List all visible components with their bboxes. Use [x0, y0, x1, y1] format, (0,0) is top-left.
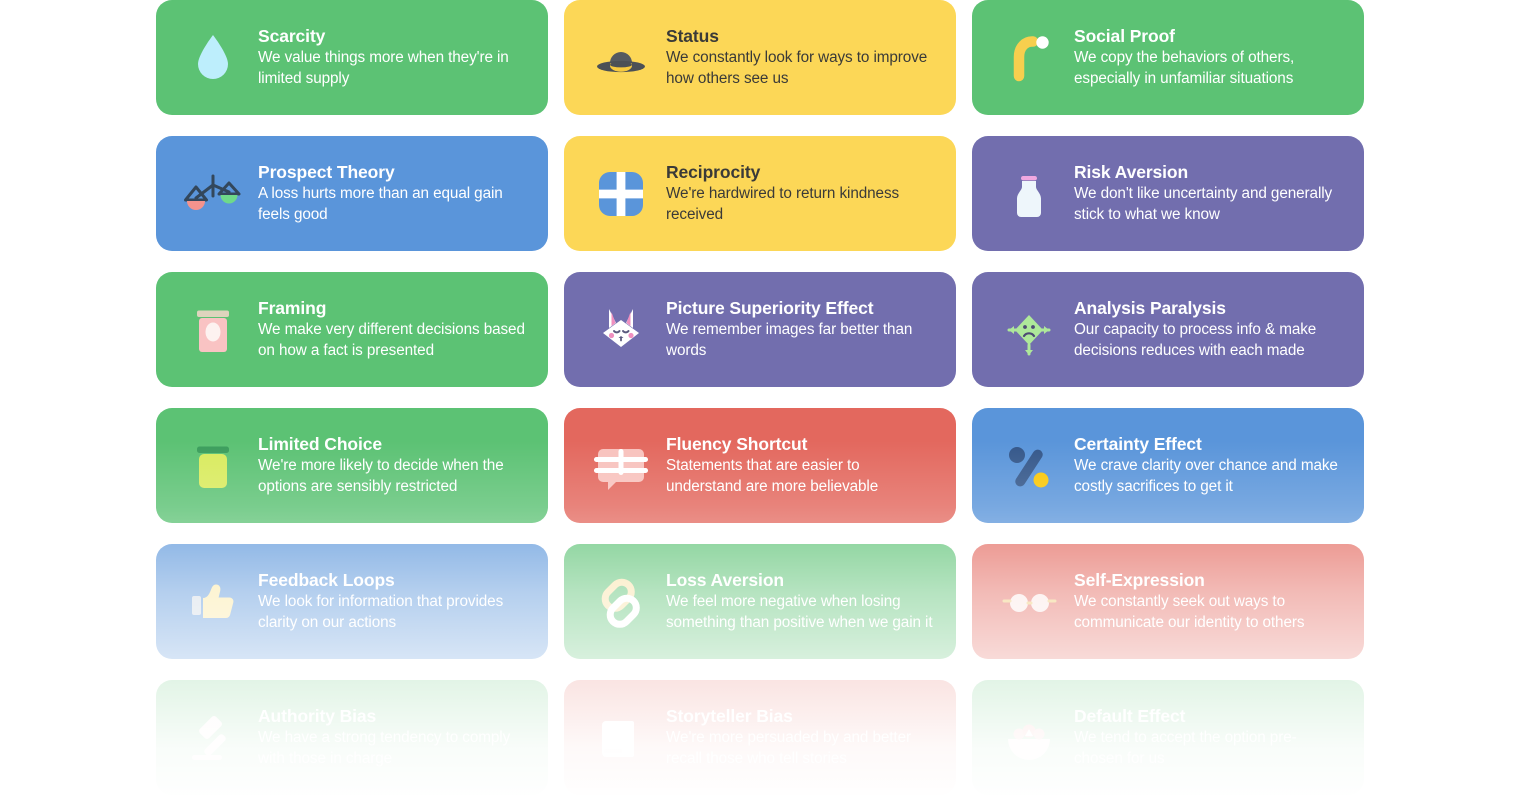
- principle-card[interactable]: Limited ChoiceWe're more likely to decid…: [156, 408, 548, 523]
- principle-description: We make very different decisions based o…: [258, 320, 526, 361]
- principle-title: Risk Aversion: [1074, 162, 1342, 183]
- principle-card[interactable]: Authority BiasWe have a strong tendency …: [156, 680, 548, 795]
- principle-text: Loss AversionWe feel more negative when …: [666, 570, 934, 633]
- bowler-hat-icon: [588, 25, 654, 91]
- principle-card[interactable]: Social ProofWe copy the behaviors of oth…: [972, 0, 1364, 115]
- principle-description: We tend to accept the option pre-chosen …: [1074, 728, 1342, 769]
- chain-link-icon: [588, 569, 654, 635]
- balance-scale-icon: [180, 161, 246, 227]
- principle-text: Picture Superiority EffectWe remember im…: [666, 298, 934, 361]
- principle-title: Analysis Paralysis: [1074, 298, 1342, 319]
- principle-text: Self-ExpressionWe constantly seek out wa…: [1074, 570, 1342, 633]
- principle-text: Risk AversionWe don't like uncertainty a…: [1074, 162, 1342, 225]
- principle-title: Authority Bias: [258, 706, 526, 727]
- cross-square-icon: [588, 161, 654, 227]
- principle-card[interactable]: ReciprocityWe're hardwired to return kin…: [564, 136, 956, 251]
- principle-text: FramingWe make very different decisions …: [258, 298, 526, 361]
- principle-title: Limited Choice: [258, 434, 526, 455]
- principle-card[interactable]: Feedback LoopsWe look for information th…: [156, 544, 548, 659]
- milk-bottle-icon: [996, 161, 1062, 227]
- principle-card[interactable]: ScarcityWe value things more when they'r…: [156, 0, 548, 115]
- principle-text: Authority BiasWe have a strong tendency …: [258, 706, 526, 769]
- principle-title: Storyteller Bias: [666, 706, 934, 727]
- principle-card[interactable]: Certainty EffectWe crave clarity over ch…: [972, 408, 1364, 523]
- principle-title: Scarcity: [258, 26, 526, 47]
- water-drop-icon: [180, 25, 246, 91]
- principle-description: We don't like uncertainty and generally …: [1074, 184, 1342, 225]
- principle-description: We crave clarity over chance and make co…: [1074, 456, 1342, 497]
- principle-description: We remember images far better than words: [666, 320, 934, 361]
- principle-description: We have a strong tendency to comply with…: [258, 728, 526, 769]
- principle-card[interactable]: Storyteller BiasWe're more persuaded by …: [564, 680, 956, 795]
- principle-title: Loss Aversion: [666, 570, 934, 591]
- boomerang-icon: [996, 25, 1062, 91]
- principle-text: Storyteller BiasWe're more persuaded by …: [666, 706, 934, 769]
- principle-title: Picture Superiority Effect: [666, 298, 934, 319]
- principle-card[interactable]: StatusWe constantly look for ways to imp…: [564, 0, 956, 115]
- principle-title: Social Proof: [1074, 26, 1342, 47]
- principle-text: StatusWe constantly look for ways to imp…: [666, 26, 934, 89]
- principle-title: Self-Expression: [1074, 570, 1342, 591]
- speech-bubble-lines-icon: [588, 433, 654, 499]
- green-jar-icon: [180, 433, 246, 499]
- principle-text: Certainty EffectWe crave clarity over ch…: [1074, 434, 1342, 497]
- principle-text: Social ProofWe copy the behaviors of oth…: [1074, 26, 1342, 89]
- principle-title: Reciprocity: [666, 162, 934, 183]
- principle-title: Certainty Effect: [1074, 434, 1342, 455]
- principle-description: Our capacity to process info & make deci…: [1074, 320, 1342, 361]
- principle-description: We look for information that provides cl…: [258, 592, 526, 633]
- sad-diamond-arrows-icon: [996, 297, 1062, 363]
- percent-icon: [996, 433, 1062, 499]
- principle-text: Prospect TheoryA loss hurts more than an…: [258, 162, 526, 225]
- principle-title: Fluency Shortcut: [666, 434, 934, 455]
- principle-card[interactable]: Loss AversionWe feel more negative when …: [564, 544, 956, 659]
- principle-card[interactable]: Prospect TheoryA loss hurts more than an…: [156, 136, 548, 251]
- principle-text: ScarcityWe value things more when they'r…: [258, 26, 526, 89]
- principle-description: We copy the behaviors of others, especia…: [1074, 48, 1342, 89]
- principle-text: Limited ChoiceWe're more likely to decid…: [258, 434, 526, 497]
- principle-title: Feedback Loops: [258, 570, 526, 591]
- principle-description: A loss hurts more than an equal gain fee…: [258, 184, 526, 225]
- thumbs-up-icon: [180, 569, 246, 635]
- jar-icon: [180, 297, 246, 363]
- principle-description: We're hardwired to return kindness recei…: [666, 184, 934, 225]
- principle-card[interactable]: FramingWe make very different decisions …: [156, 272, 548, 387]
- principle-card[interactable]: Analysis ParalysisOur capacity to proces…: [972, 272, 1364, 387]
- principle-title: Prospect Theory: [258, 162, 526, 183]
- gavel-icon: [180, 705, 246, 771]
- principle-card[interactable]: Self-ExpressionWe constantly seek out wa…: [972, 544, 1364, 659]
- principle-title: Status: [666, 26, 934, 47]
- principle-description: Statements that are easier to understand…: [666, 456, 934, 497]
- book-icon: [588, 705, 654, 771]
- principle-card[interactable]: Default EffectWe tend to accept the opti…: [972, 680, 1364, 795]
- principles-grid: ScarcityWe value things more when they'r…: [0, 0, 1520, 801]
- principle-text: ReciprocityWe're hardwired to return kin…: [666, 162, 934, 225]
- glasses-icon: [996, 569, 1062, 635]
- principle-description: We value things more when they're in lim…: [258, 48, 526, 89]
- principle-card[interactable]: Fluency ShortcutStatements that are easi…: [564, 408, 956, 523]
- bowl-of-food-icon: [996, 705, 1062, 771]
- principle-card[interactable]: Picture Superiority EffectWe remember im…: [564, 272, 956, 387]
- principle-title: Default Effect: [1074, 706, 1342, 727]
- principle-description: We're more likely to decide when the opt…: [258, 456, 526, 497]
- principle-text: Default EffectWe tend to accept the opti…: [1074, 706, 1342, 769]
- principle-text: Fluency ShortcutStatements that are easi…: [666, 434, 934, 497]
- principle-title: Framing: [258, 298, 526, 319]
- principle-description: We constantly seek out ways to communica…: [1074, 592, 1342, 633]
- principle-text: Analysis ParalysisOur capacity to proces…: [1074, 298, 1342, 361]
- principle-description: We feel more negative when losing someth…: [666, 592, 934, 633]
- principle-description: We constantly look for ways to improve h…: [666, 48, 934, 89]
- principle-description: We're more persuaded by and better recal…: [666, 728, 934, 769]
- principle-card[interactable]: Risk AversionWe don't like uncertainty a…: [972, 136, 1364, 251]
- principle-text: Feedback LoopsWe look for information th…: [258, 570, 526, 633]
- rabbit-face-icon: [588, 297, 654, 363]
